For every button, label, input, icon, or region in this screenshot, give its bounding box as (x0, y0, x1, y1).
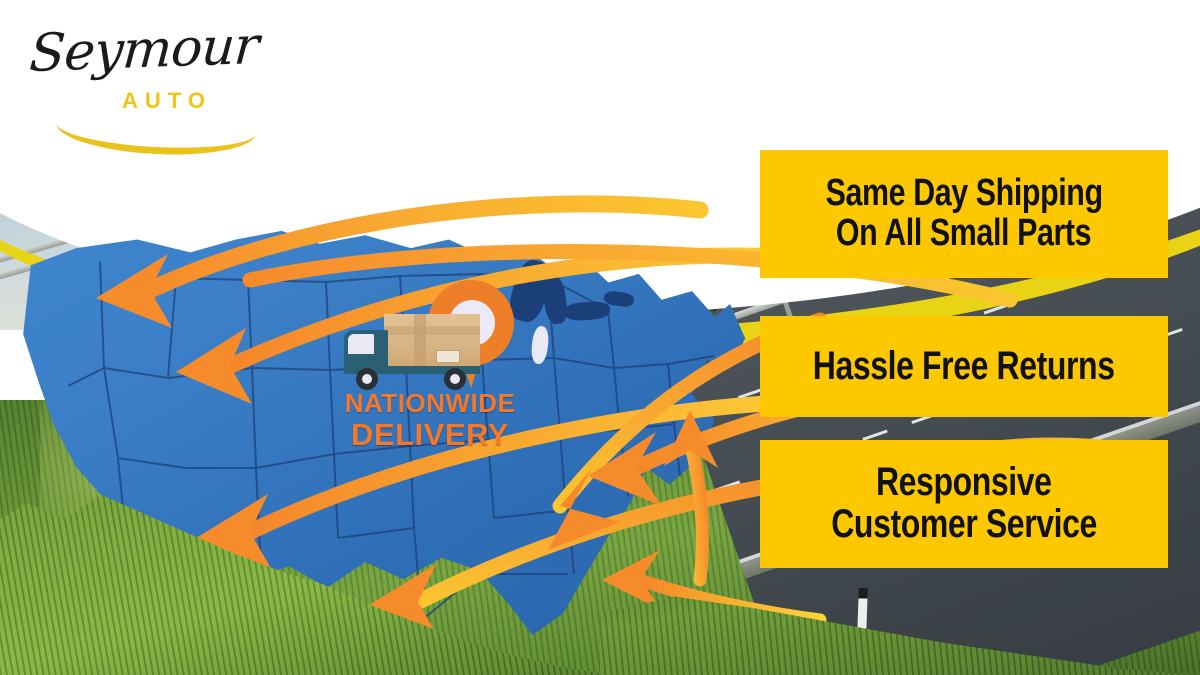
feature-box-responsive-customer-service[interactable]: Responsive Customer Service (760, 440, 1168, 568)
truck-window (348, 334, 374, 354)
feature-2-line-1: Hassle Free Returns (813, 346, 1115, 388)
badge-line-1: NATIONWIDE (330, 390, 530, 416)
badge-line-2: DELIVERY (330, 419, 530, 450)
truck-box-label (436, 350, 460, 363)
feature-box-hassle-free-returns[interactable]: Hassle Free Returns (760, 316, 1168, 417)
truck-wheel (444, 368, 466, 390)
feature-3-line-2: Customer Service (831, 504, 1097, 546)
feature-3-line-1: Responsive (876, 462, 1052, 504)
logo-brand-name: Seymour (28, 16, 261, 84)
delivery-truck-icon (336, 312, 486, 392)
truck-cargo-box (384, 314, 480, 368)
feature-box-same-day-shipping[interactable]: Same Day Shipping On All Small Parts (760, 150, 1168, 278)
seymour-auto-logo[interactable]: Seymour AUTO (26, 14, 256, 126)
truck-box-tape (384, 326, 480, 335)
truck-wheel (356, 368, 378, 390)
feature-1-line-2: On All Small Parts (836, 214, 1091, 254)
nationwide-delivery-badge: NATIONWIDE DELIVERY (330, 278, 530, 450)
delivery-badge-text: NATIONWIDE DELIVERY (330, 390, 530, 450)
truck-box-tape (414, 314, 426, 368)
promotional-banner: Seymour AUTO NATIONWIDE DELIVERY Same Da… (0, 0, 1200, 675)
feature-1-line-1: Same Day Shipping (826, 174, 1103, 214)
